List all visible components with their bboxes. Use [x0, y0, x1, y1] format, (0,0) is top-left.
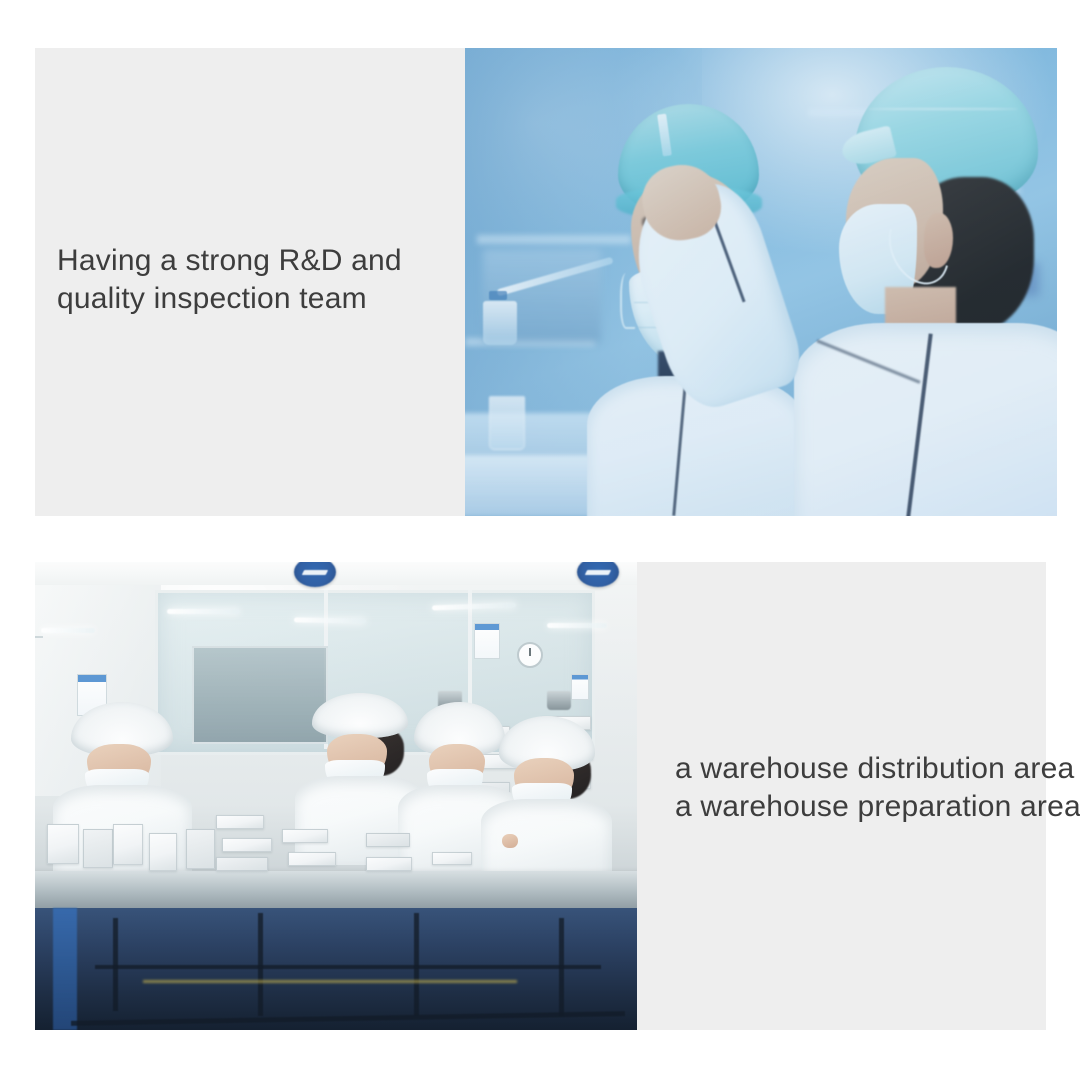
lab-worker-profile	[761, 57, 1057, 516]
carton-box	[366, 857, 412, 871]
steel-container-icon	[547, 691, 571, 710]
carton-box	[216, 857, 268, 871]
carton-box	[432, 852, 472, 865]
section-rnd-quality: Having a strong R&D and quality inspecti…	[35, 48, 1057, 516]
carton-box	[366, 833, 410, 847]
bottom-caption-line-1: a warehouse distribution area	[675, 750, 1080, 788]
top-caption-panel: Having a strong R&D and quality inspecti…	[35, 48, 465, 516]
bottom-caption-text: a warehouse distribution area a warehous…	[675, 750, 1080, 826]
ceiling-band	[35, 562, 637, 585]
carton-box	[149, 833, 177, 871]
notice-board	[571, 674, 589, 700]
hairnet-fold	[868, 108, 1018, 110]
notice-board	[474, 623, 500, 659]
ceiling-light-icon	[547, 623, 607, 628]
table-frame-beam	[95, 965, 601, 969]
floor-marking	[143, 980, 516, 983]
bottom-caption-line-2: a warehouse preparation area	[675, 788, 1080, 826]
wall-clock-icon	[517, 642, 543, 668]
steel-work-table	[35, 871, 637, 908]
flask-icon	[483, 301, 517, 345]
flask-cap	[489, 291, 507, 300]
carton-box	[288, 852, 336, 866]
ceiling-light-icon	[167, 609, 239, 614]
carton-box	[186, 829, 215, 869]
section-warehouse: a warehouse distribution area a warehous…	[35, 562, 1046, 1030]
carton-box	[47, 824, 79, 864]
lab-beaker-icon	[489, 396, 525, 450]
warehouse-packing-photo	[35, 562, 637, 1030]
warehouse-worker	[499, 716, 595, 875]
table-frame-beam	[414, 913, 419, 1016]
top-caption-line-1: Having a strong R&D and	[57, 242, 402, 280]
mask-ear-loop	[620, 273, 635, 329]
carton-box	[216, 815, 264, 829]
top-caption-line-2: quality inspection team	[57, 280, 402, 318]
worker-hand	[502, 834, 517, 848]
carton-box	[282, 829, 328, 843]
blue-support-post	[53, 908, 77, 1030]
carton-box	[83, 829, 113, 868]
banner-page: Having a strong R&D and quality inspecti…	[0, 0, 1080, 1080]
inner-window	[192, 646, 328, 744]
hairnet-icon	[312, 693, 408, 738]
table-frame-beam	[559, 918, 564, 1016]
carton-box	[222, 838, 272, 852]
ceiling-light-icon	[41, 628, 95, 633]
table-frame-beam	[113, 918, 118, 1012]
table-frame-beam	[258, 913, 263, 1016]
lab-coat	[794, 323, 1057, 516]
carton-box	[113, 824, 143, 865]
top-caption-text: Having a strong R&D and quality inspecti…	[57, 242, 402, 318]
lab-quality-inspection-photo	[465, 48, 1057, 516]
